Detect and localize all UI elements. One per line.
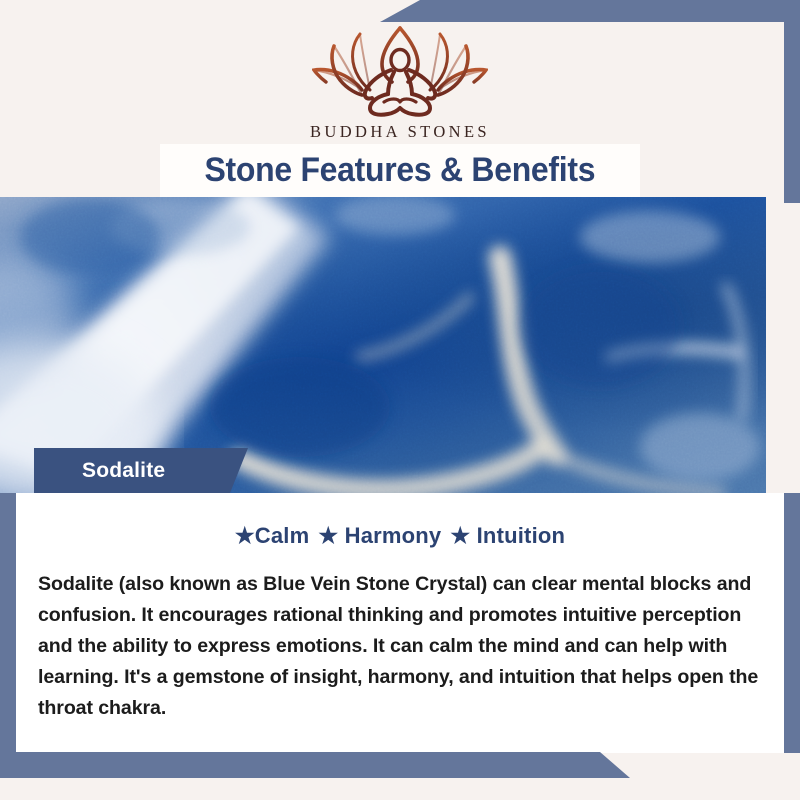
keyword-item-1: ★ Harmony bbox=[318, 523, 441, 548]
star-icon: ★ bbox=[450, 523, 470, 548]
card-header: BUDDHA STONES Stone Features & Benefits bbox=[0, 0, 800, 197]
frame-accent-right-upper bbox=[784, 0, 800, 203]
brand-name: BUDDHA STONES bbox=[310, 122, 490, 142]
star-icon: ★ bbox=[235, 523, 255, 548]
keyword-item-2: ★ Intuition bbox=[450, 523, 565, 548]
keyword-item-0: ★Calm bbox=[235, 523, 310, 548]
stone-info-card: BUDDHA STONES Stone Features & Benefits bbox=[0, 0, 800, 800]
keyword-label-0: Calm bbox=[255, 523, 310, 548]
keyword-label-1: Harmony bbox=[345, 523, 442, 548]
star-icon: ★ bbox=[318, 523, 338, 548]
title-banner: Stone Features & Benefits bbox=[160, 144, 640, 197]
frame-accent-bottom bbox=[0, 752, 630, 778]
page-title: Stone Features & Benefits bbox=[205, 151, 596, 190]
keyword-list: ★Calm★ Harmony★ Intuition bbox=[16, 523, 784, 549]
frame-accent-right-lower bbox=[784, 493, 800, 753]
content-panel: ★Calm★ Harmony★ Intuition Sodalite (also… bbox=[16, 493, 784, 753]
frame-accent-top-right bbox=[380, 0, 800, 22]
lotus-meditation-icon bbox=[312, 26, 488, 118]
brand-logo: BUDDHA STONES bbox=[0, 26, 800, 142]
stone-name-text: Sodalite bbox=[82, 459, 165, 483]
stone-name-chip: Sodalite bbox=[34, 448, 248, 493]
stone-description: Sodalite (also known as Blue Vein Stone … bbox=[38, 569, 762, 724]
frame-accent-left bbox=[0, 493, 16, 773]
keyword-label-2: Intuition bbox=[477, 523, 566, 548]
